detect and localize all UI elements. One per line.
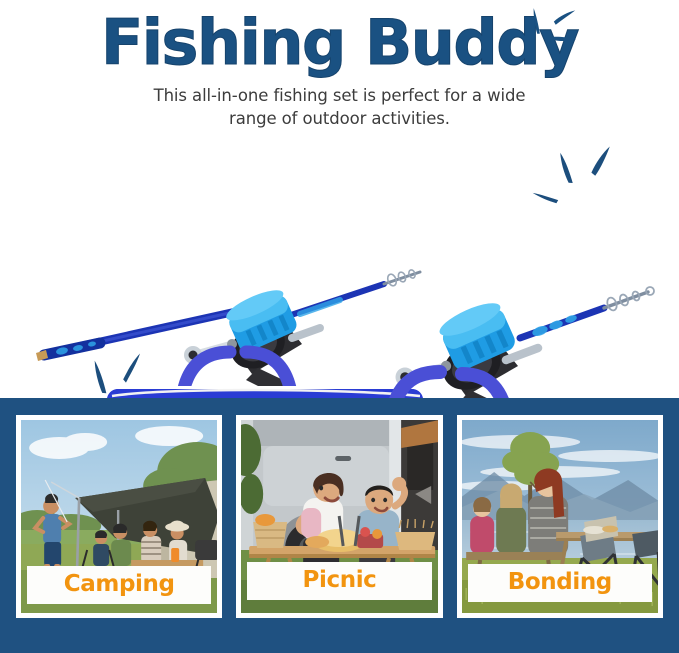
product-infographic-page: Fishing Buddy This all-in-one fishing se… [0, 0, 679, 653]
page-title: Fishing Buddy [101, 6, 578, 80]
activity-label: Picnic [303, 567, 377, 593]
bonding-label-strip: Bonding [468, 564, 652, 602]
camping-label-strip: Camping [27, 566, 211, 604]
hero-product-image: DaddyGofish [0, 138, 679, 398]
bonding-photo: Bonding [462, 420, 658, 613]
activities-band: Camping [0, 398, 679, 653]
header-section: Fishing Buddy This all-in-one fishing se… [0, 0, 679, 140]
picnic-photo: Picnic [241, 420, 437, 613]
activity-label: Bonding [508, 569, 612, 595]
activity-card-camping[interactable]: Camping [16, 415, 222, 618]
activity-card-picnic[interactable]: Picnic [236, 415, 442, 618]
activity-cards: Camping [16, 415, 663, 618]
hero-product-illustration: DaddyGofish [0, 138, 679, 398]
activity-card-bonding[interactable]: Bonding [457, 415, 663, 618]
page-title-wrapper: Fishing Buddy [0, 6, 679, 80]
page-title-text: Fishing Buddy [101, 6, 578, 79]
page-subtitle: This all-in-one fishing set is perfect f… [0, 85, 679, 130]
picnic-label-strip: Picnic [247, 562, 431, 600]
page-subtitle-line-1: This all-in-one fishing set is perfect f… [0, 85, 679, 108]
activity-label: Camping [64, 571, 175, 597]
page-subtitle-line-2: range of outdoor activities. [0, 108, 679, 131]
camping-photo: Camping [21, 420, 217, 613]
